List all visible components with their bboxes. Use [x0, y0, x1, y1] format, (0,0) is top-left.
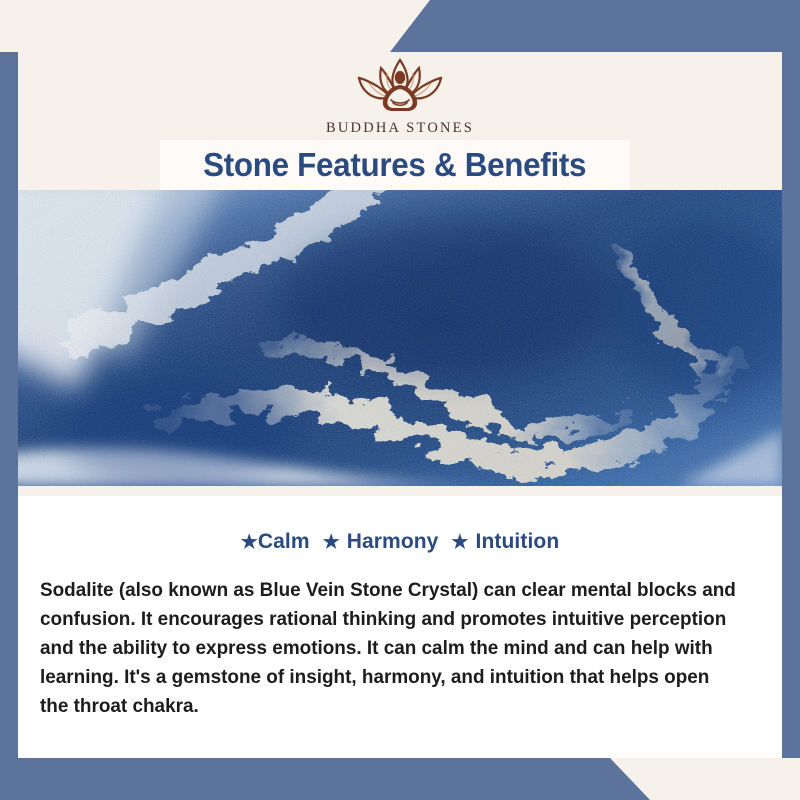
- frame-right-border: [782, 0, 800, 800]
- content-card: BUDDHA STONES Stone Features & Benefits: [18, 52, 782, 758]
- page-title: Stone Features & Benefits: [203, 146, 586, 184]
- benefit-label-1: Calm: [258, 530, 310, 553]
- benefit-star-3: ★: [451, 532, 468, 553]
- brand-logo-area: BUDDHA STONES: [18, 52, 782, 140]
- benefit-star-2: ★: [323, 532, 340, 553]
- benefits-row: ★Calm ★Harmony ★Intuition: [18, 530, 782, 554]
- body-panel: ★Calm ★Harmony ★Intuition Sodalite (also…: [18, 496, 782, 758]
- stone-photo: Sodalite: [18, 190, 782, 486]
- benefit-star-1: ★: [241, 532, 258, 553]
- lotus-meditation-logo-icon: [325, 56, 475, 118]
- brand-name: BUDDHA STONES: [326, 120, 474, 137]
- benefit-label-2: Harmony: [347, 530, 439, 553]
- benefit-label-3: Intuition: [476, 530, 560, 553]
- poster-root: BUDDHA STONES Stone Features & Benefits: [0, 0, 800, 800]
- stone-description: Sodalite (also known as Blue Vein Stone …: [40, 576, 738, 721]
- frame-left-border: [0, 52, 18, 800]
- sodalite-texture-graphic: [18, 190, 782, 486]
- page-title-box: Stone Features & Benefits: [160, 140, 630, 190]
